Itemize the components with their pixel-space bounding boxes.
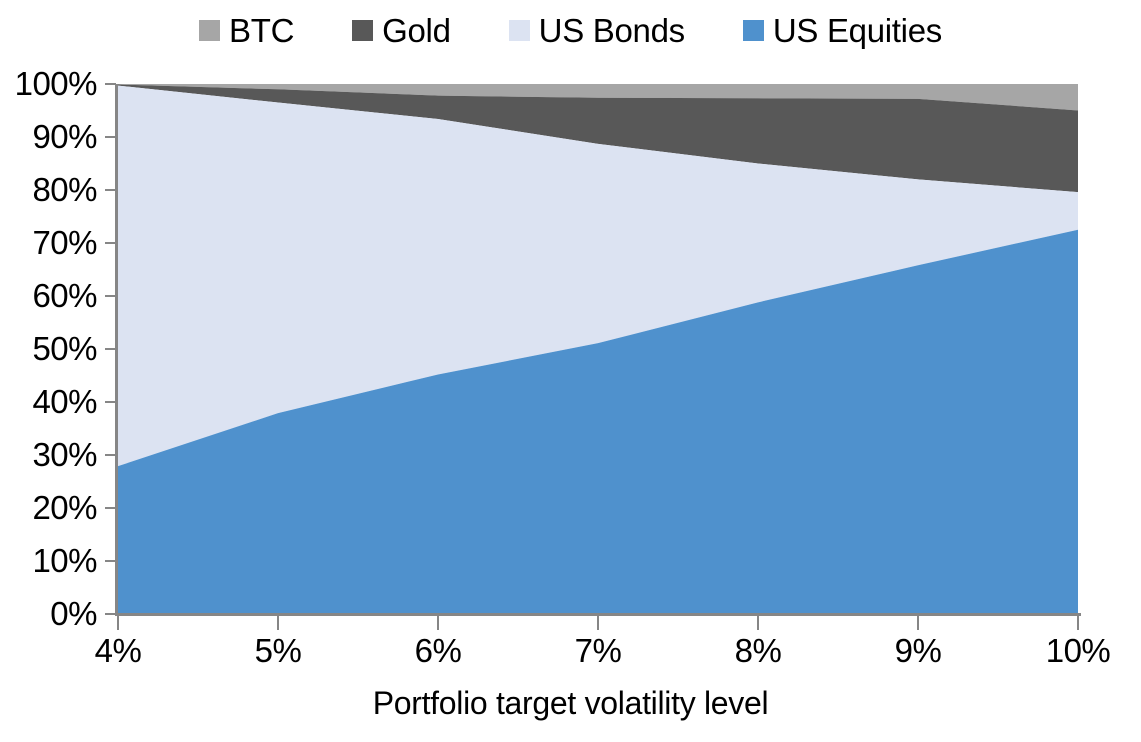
- legend-swatch-us-equities: [743, 20, 764, 41]
- y-axis-tick: [105, 83, 116, 85]
- y-axis-tick-label: 60%: [0, 279, 97, 312]
- legend-item-btc[interactable]: BTC: [199, 14, 294, 47]
- y-axis-tick: [105, 189, 116, 191]
- y-axis-tick: [105, 348, 116, 350]
- legend-label-us-bonds: US Bonds: [539, 14, 685, 47]
- y-axis-tick-label: 30%: [0, 438, 97, 471]
- x-axis-title: Portfolio target volatility level: [0, 685, 1141, 722]
- legend-swatch-btc: [199, 20, 220, 41]
- x-axis-tick-label: 10%: [1008, 634, 1141, 667]
- x-axis-tick-label: 4%: [48, 634, 188, 667]
- stacked-area-chart: BTC Gold US Bonds US Equities 100%90%80%…: [0, 0, 1141, 742]
- y-axis-tick-label: 70%: [0, 226, 97, 259]
- y-axis-tick-label: 40%: [0, 385, 97, 418]
- y-axis-tick: [105, 560, 116, 562]
- y-axis-tick: [105, 136, 116, 138]
- x-axis-tick-label: 8%: [688, 634, 828, 667]
- y-axis-tick-label: 50%: [0, 332, 97, 365]
- x-axis-tick: [757, 616, 759, 630]
- legend-item-gold[interactable]: Gold: [352, 14, 451, 47]
- legend-item-us-equities[interactable]: US Equities: [743, 14, 942, 47]
- area-series-group: [118, 84, 1078, 614]
- x-axis-tick: [117, 616, 119, 630]
- x-axis-tick: [277, 616, 279, 630]
- y-axis-tick: [105, 507, 116, 509]
- y-axis-tick: [105, 295, 116, 297]
- y-axis-tick-label: 100%: [0, 67, 97, 100]
- x-axis-tick-label: 7%: [528, 634, 668, 667]
- x-axis-tick-label: 9%: [848, 634, 988, 667]
- x-axis-tick: [917, 616, 919, 630]
- legend-label-us-equities: US Equities: [773, 14, 942, 47]
- legend-label-btc: BTC: [229, 14, 294, 47]
- y-axis-tick: [105, 242, 116, 244]
- legend-item-us-bonds[interactable]: US Bonds: [509, 14, 685, 47]
- y-axis-tick-label: 0%: [0, 597, 97, 630]
- y-axis-tick: [105, 454, 116, 456]
- x-axis-tick-label: 5%: [208, 634, 348, 667]
- y-axis-tick: [105, 401, 116, 403]
- y-axis-tick-label: 90%: [0, 120, 97, 153]
- x-axis-tick: [1077, 616, 1079, 630]
- x-axis-tick-label: 6%: [368, 634, 508, 667]
- chart-legend: BTC Gold US Bonds US Equities: [0, 8, 1141, 52]
- legend-swatch-gold: [352, 20, 373, 41]
- y-axis-tick-label: 80%: [0, 173, 97, 206]
- x-axis-tick: [597, 616, 599, 630]
- legend-label-gold: Gold: [382, 14, 451, 47]
- legend-swatch-us-bonds: [509, 20, 530, 41]
- x-axis-tick: [437, 616, 439, 630]
- y-axis-tick-label: 10%: [0, 544, 97, 577]
- y-axis-tick: [105, 613, 116, 615]
- plot-area: [118, 84, 1078, 614]
- y-axis-tick-label: 20%: [0, 491, 97, 524]
